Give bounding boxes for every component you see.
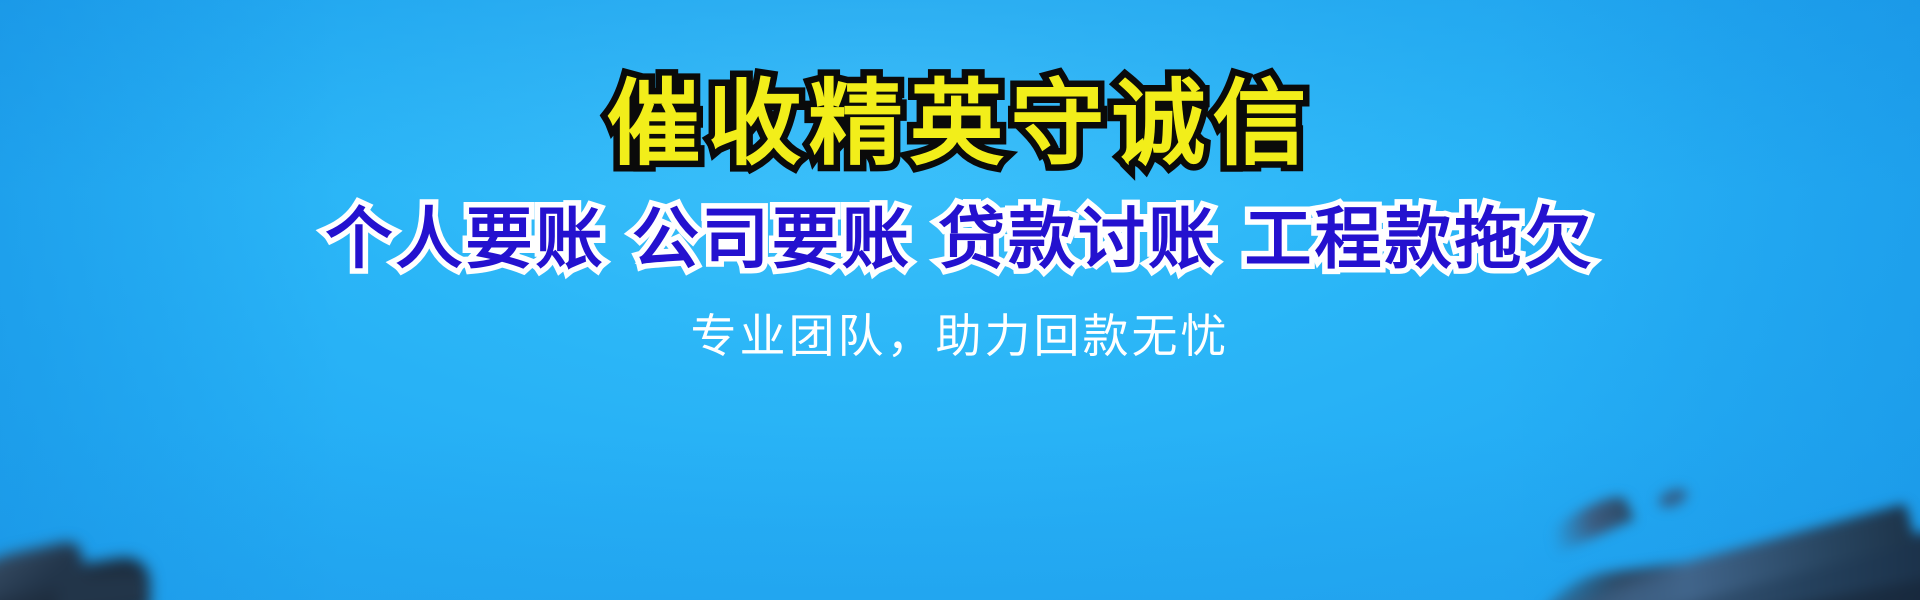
banner-headline: 催收精英守诚信	[606, 78, 1313, 172]
banner-text-stack: 催收精英守诚信 个人要账 公司要账 贷款讨账 工程款拖欠 专业团队，助力回款无忧	[0, 0, 1920, 600]
banner-tagline: 专业团队，助力回款无忧	[691, 313, 1230, 359]
banner-service-list: 个人要账 公司要账 贷款讨账 工程款拖欠	[326, 206, 1595, 273]
promotional-banner: 催收精英守诚信 个人要账 公司要账 贷款讨账 工程款拖欠 专业团队，助力回款无忧	[0, 0, 1920, 600]
